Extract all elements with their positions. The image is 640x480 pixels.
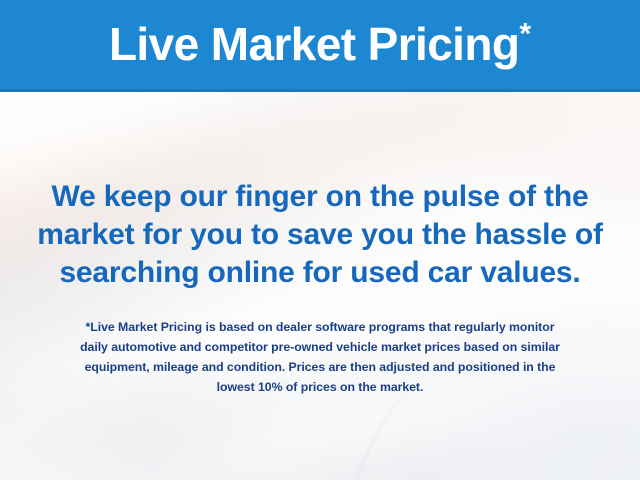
page-title-asterisk: * (519, 17, 531, 50)
live-market-pricing-card: Live Market Pricing* We keep our finger … (0, 0, 640, 480)
header-banner: Live Market Pricing* (0, 0, 640, 92)
headline-line-1: We keep our finger on the pulse of the (18, 178, 622, 216)
page-title-text: Live Market Pricing (109, 18, 519, 70)
disclaimer-text: *Live Market Pricing is based on dealer … (0, 317, 640, 397)
disclaimer-line-3: equipment, mileage and condition. Prices… (26, 357, 614, 377)
headline-line-2: market for you to save you the hassle of (18, 216, 622, 254)
page-title: Live Market Pricing* (109, 21, 531, 67)
headline-text: We keep our finger on the pulse of the m… (0, 178, 640, 292)
disclaimer-line-2: daily automotive and competitor pre-owne… (26, 337, 614, 357)
disclaimer-line-4: lowest 10% of prices on the market. (26, 377, 614, 397)
headline-line-3: searching online for used car values. (18, 254, 622, 292)
disclaimer-line-1: *Live Market Pricing is based on dealer … (26, 317, 614, 337)
